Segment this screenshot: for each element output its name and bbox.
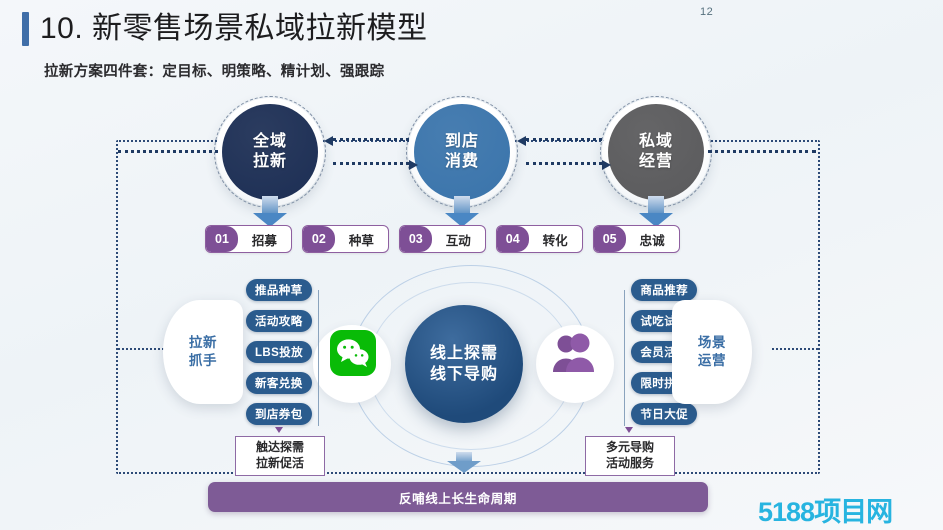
arrow-left-back-2: [526, 138, 602, 141]
hub-circle[interactable]: 线上探需 线下导购: [405, 305, 523, 423]
pill-label: 互动: [432, 230, 485, 249]
pill-label: 招募: [238, 230, 291, 249]
down-arrow-2: [445, 196, 479, 228]
right-box-arrow: [625, 427, 633, 433]
arrowhead-right-icon: [409, 160, 418, 170]
slide-canvas: 12 10. 新零售场景私域拉新模型 拉新方案四件套：定目标、明策略、精计划、强…: [0, 0, 943, 530]
wechat-icon: [330, 330, 376, 376]
stage-pill-01[interactable]: 01 招募: [205, 225, 292, 253]
frame-connector-left: [118, 348, 168, 350]
left-tag-3[interactable]: LBS投放: [246, 341, 312, 363]
hub-line2: 线下导购: [430, 364, 498, 385]
pill-label: 种草: [335, 230, 388, 249]
left-fan-label[interactable]: 拉新 抓手: [163, 300, 243, 404]
people-icon: [550, 330, 598, 376]
hub-down-arrow: [447, 452, 481, 474]
left-box-arrow: [275, 427, 283, 433]
down-arrow-3: [639, 196, 673, 228]
pill-number: 02: [303, 226, 335, 252]
title-accent-bar: [22, 12, 29, 46]
title-text: 10. 新零售场景私域拉新模型: [40, 14, 428, 44]
left-tag-1[interactable]: 推品种草: [246, 279, 312, 301]
arrow-right-forward-2: [526, 162, 602, 165]
bottom-box-left[interactable]: 触达探需 拉新促活: [235, 436, 325, 476]
arrow-right-forward-1: [333, 162, 409, 165]
bottom-box-right-line1: 多元导购: [606, 440, 654, 456]
pill-number: 05: [594, 226, 626, 252]
left-tag-5[interactable]: 到店券包: [246, 403, 312, 425]
bottom-bar[interactable]: 反哺线上长生命周期: [208, 482, 708, 512]
right-fan-label[interactable]: 场景 运营: [672, 300, 752, 404]
right-fan-line2: 运营: [698, 352, 726, 370]
left-tag-4[interactable]: 新客兑换: [246, 372, 312, 394]
circle-label-line2: 消费: [445, 152, 479, 172]
pill-number: 03: [400, 226, 432, 252]
page-subtitle: 拉新方案四件套：定目标、明策略、精计划、强跟踪: [44, 60, 384, 81]
arrow-frame-to-circle-left: [118, 150, 218, 153]
arrowhead-right-icon: [602, 160, 611, 170]
circle-label-line1: 全域: [253, 132, 287, 152]
circle-label-line2: 拉新: [253, 152, 287, 172]
hub-line1: 线上探需: [430, 343, 498, 364]
page-title: 10. 新零售场景私域拉新模型: [22, 12, 428, 46]
stage-pill-02[interactable]: 02 种草: [302, 225, 389, 253]
right-fan-line1: 场景: [698, 334, 726, 352]
stage-circle-daodian[interactable]: 到店 消费: [414, 104, 510, 200]
arrowhead-left-icon: [517, 136, 526, 146]
pill-label: 忠诚: [626, 230, 679, 249]
circle-label-line2: 经营: [639, 152, 673, 172]
arrow-left-back-1: [333, 138, 409, 141]
right-tag-5[interactable]: 节日大促: [631, 403, 697, 425]
right-tag-1[interactable]: 商品推荐: [631, 279, 697, 301]
stage-pill-05[interactable]: 05 忠诚: [593, 225, 680, 253]
pill-number: 04: [497, 226, 529, 252]
arrow-circle-to-frame-right: [708, 150, 816, 153]
stage-circle-siyu[interactable]: 私域 经营: [608, 104, 704, 200]
down-arrow-1: [253, 196, 287, 228]
circle-label-line1: 私域: [639, 132, 673, 152]
circle-body: 私域 经营: [608, 104, 704, 200]
bottom-box-left-line1: 触达探需: [256, 440, 304, 456]
frame-connector-right: [772, 348, 818, 350]
left-fan-line1: 拉新: [189, 334, 217, 352]
page-number: 12: [700, 6, 713, 18]
circle-body: 全域 拉新: [222, 104, 318, 200]
stage-pill-03[interactable]: 03 互动: [399, 225, 486, 253]
stage-pill-04[interactable]: 04 转化: [496, 225, 583, 253]
circle-body: 到店 消费: [414, 104, 510, 200]
left-tag-connector: [318, 290, 319, 426]
bottom-box-right[interactable]: 多元导购 活动服务: [585, 436, 675, 476]
arrowhead-left-icon: [324, 136, 333, 146]
watermark: 5188项目网: [758, 490, 892, 529]
bottom-box-right-line2: 活动服务: [606, 456, 654, 472]
right-tag-connector: [624, 290, 625, 426]
pill-number: 01: [206, 226, 238, 252]
stage-pill-row: 01 招募 02 种草 03 互动 04 转化 05 忠诚: [205, 225, 680, 253]
circle-label-line1: 到店: [445, 132, 479, 152]
left-tag-2[interactable]: 活动攻略: [246, 310, 312, 332]
bottom-box-left-line2: 拉新促活: [256, 456, 304, 472]
stage-circle-quanyu[interactable]: 全域 拉新: [222, 104, 318, 200]
pill-label: 转化: [529, 230, 582, 249]
left-fan-line2: 抓手: [189, 352, 217, 370]
